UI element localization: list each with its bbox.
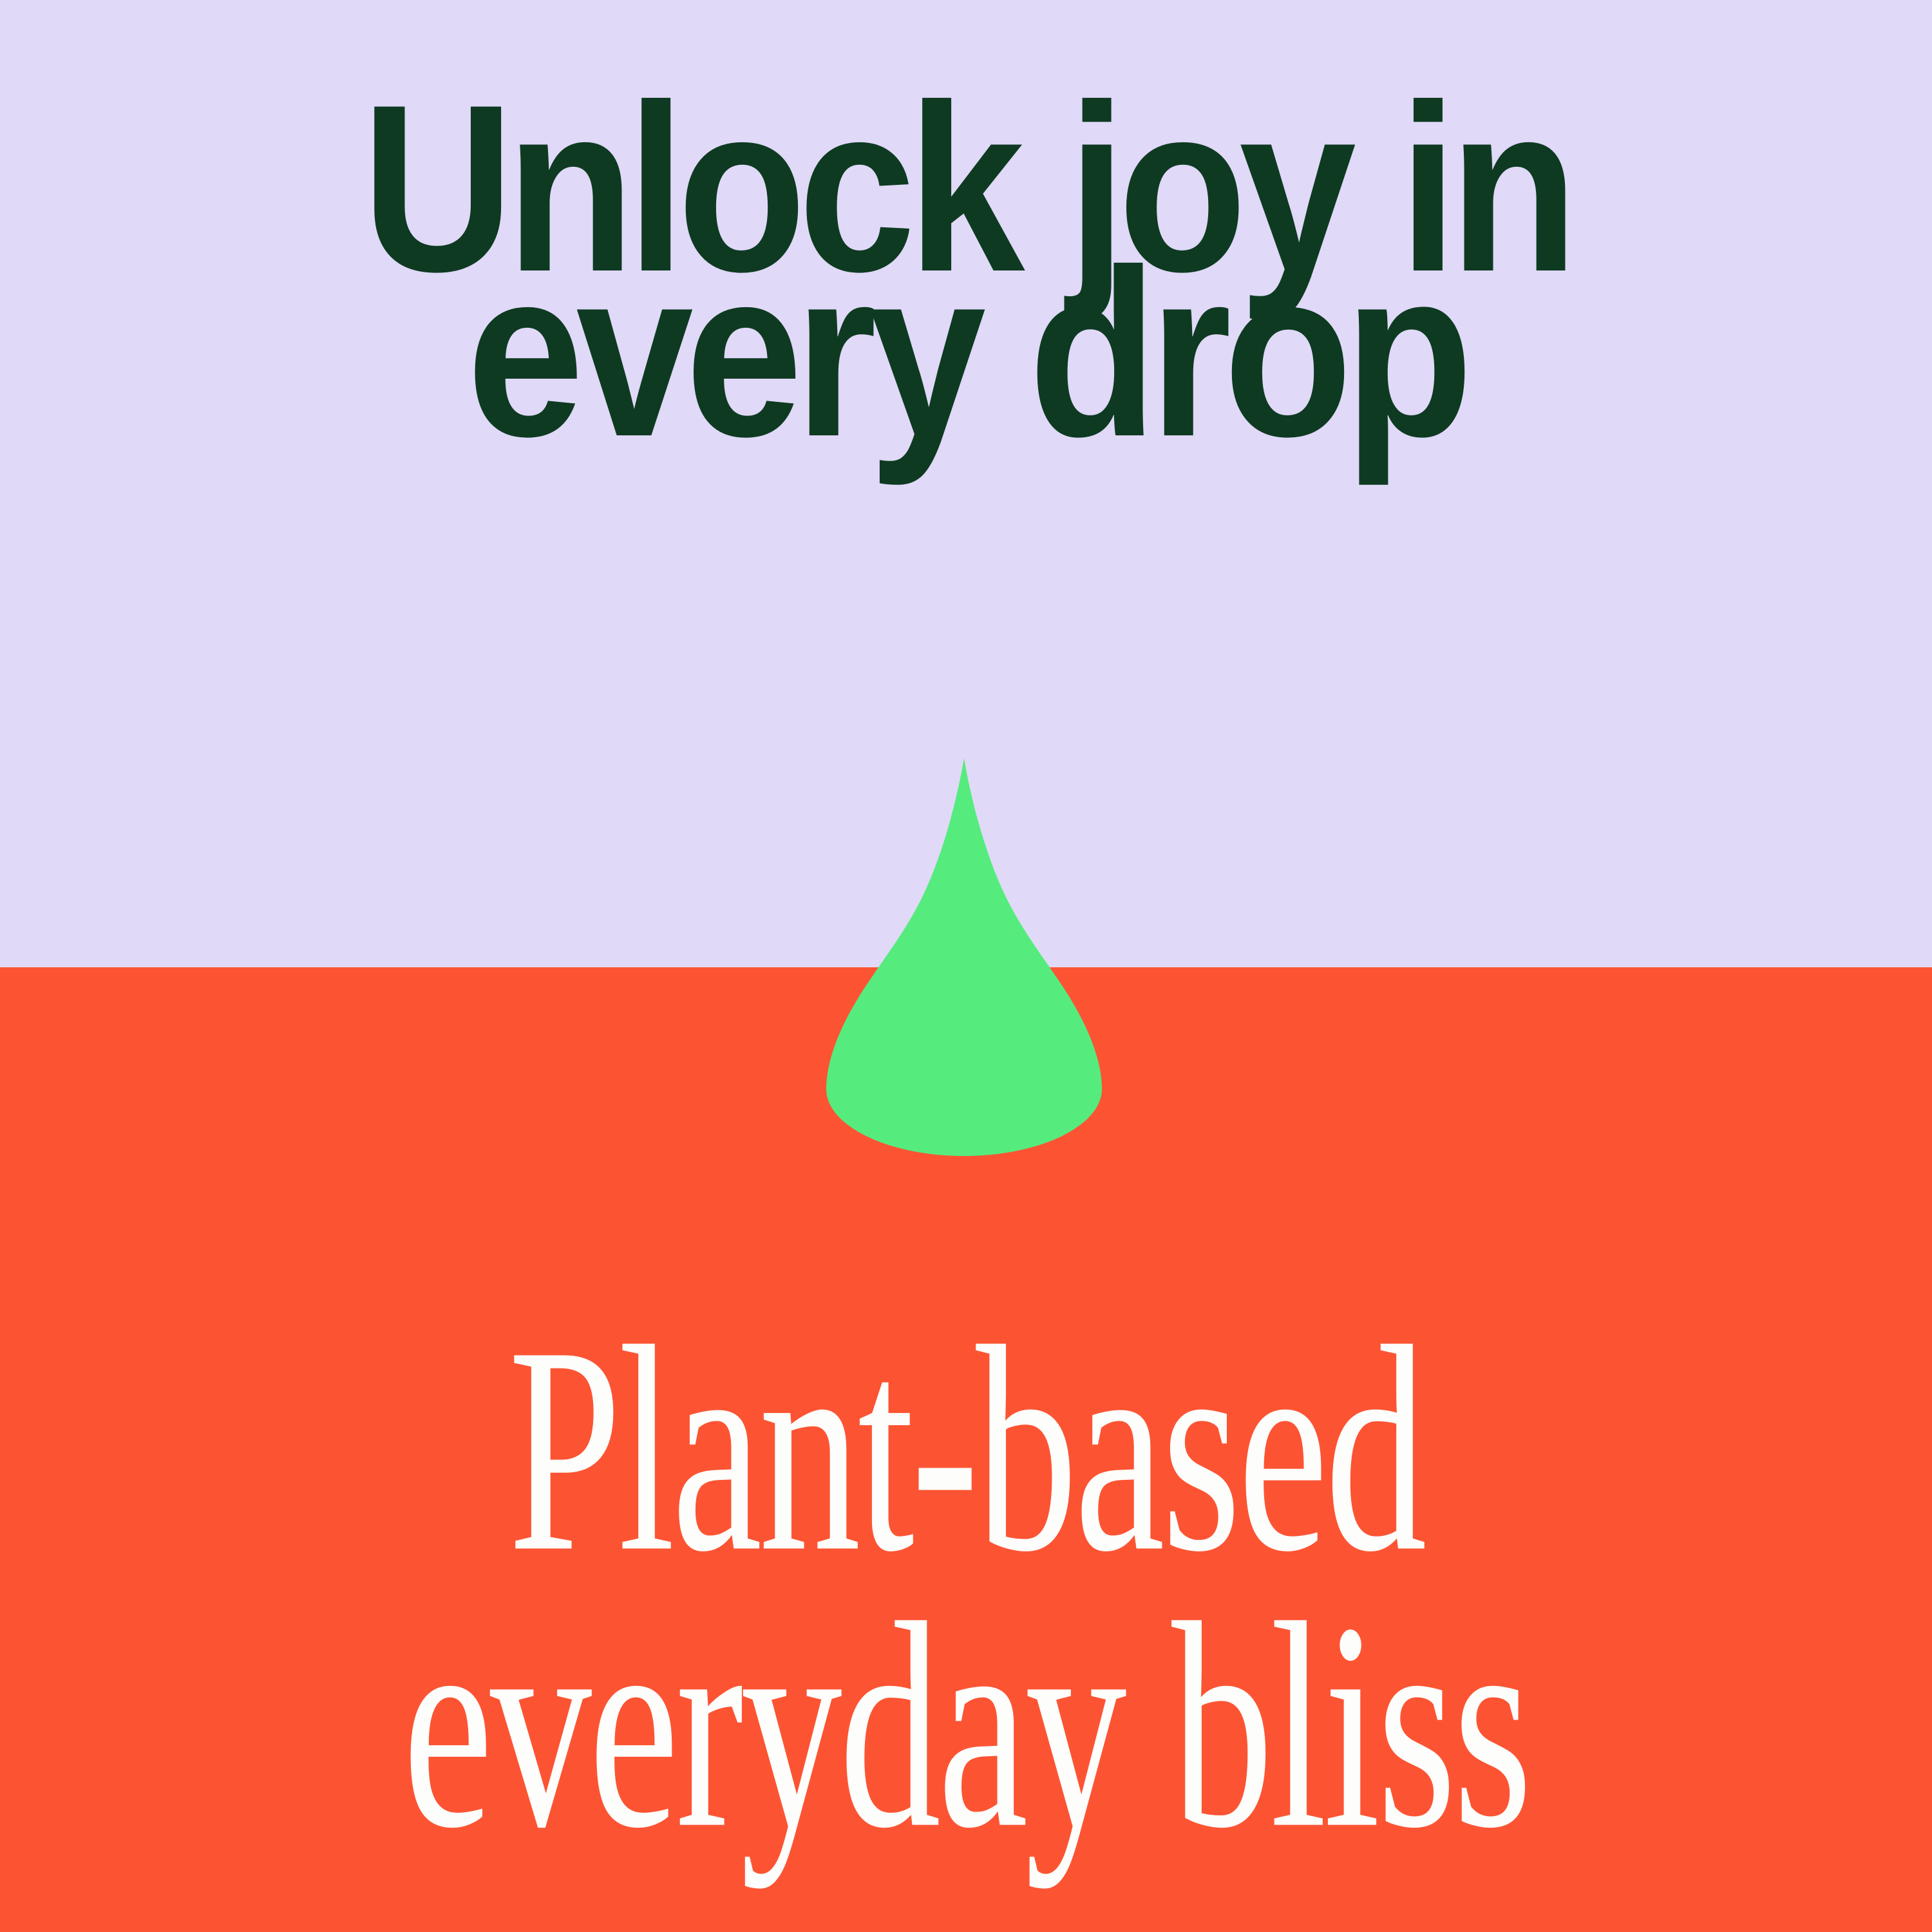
subheadline-line-1: Plant-based	[193, 1317, 1739, 1582]
headline: Unlock joy in every drop	[111, 0, 1821, 434]
subheadline-line-2: everyday bliss	[193, 1593, 1739, 1859]
subheadline: Plant-based everyday bliss	[193, 967, 1739, 1932]
poster-canvas: Unlock joy in every drop Plant-based eve…	[0, 0, 1932, 1932]
